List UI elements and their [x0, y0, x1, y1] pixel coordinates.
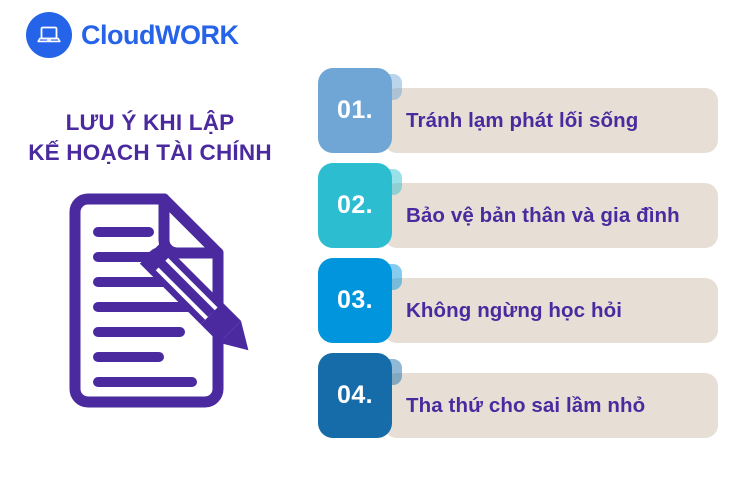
- laptop-icon: [26, 12, 72, 58]
- page-title-line-2: KẾ HOẠCH TÀI CHÍNH: [0, 138, 300, 168]
- list-item-label: Bảo vệ bản thân và gia đình: [406, 183, 680, 248]
- list-item[interactable]: 02. Bảo vệ bản thân và gia đình: [316, 163, 726, 248]
- tips-list: 01. Tránh lạm phát lối sống 02. Bảo vệ b…: [316, 68, 726, 458]
- list-item-number-badge: 02.: [318, 163, 392, 248]
- page-title: LƯU Ý KHI LẬP KẾ HOẠCH TÀI CHÍNH: [0, 108, 300, 169]
- page-title-line-1: LƯU Ý KHI LẬP: [0, 108, 300, 138]
- brand-name: CloudWORK: [81, 22, 238, 49]
- list-item-number: 02.: [337, 193, 373, 218]
- list-item-number: 03.: [337, 288, 373, 313]
- list-item[interactable]: 01. Tránh lạm phát lối sống: [316, 68, 726, 153]
- list-item[interactable]: 03. Không ngừng học hỏi: [316, 258, 726, 343]
- list-item-number-badge: 01.: [318, 68, 392, 153]
- list-item-label: Tha thứ cho sai lầm nhỏ: [406, 373, 645, 438]
- list-item-label: Không ngừng học hỏi: [406, 278, 622, 343]
- list-item-number-badge: 03.: [318, 258, 392, 343]
- list-item-number: 01.: [337, 98, 373, 123]
- list-item-number-badge: 04.: [318, 353, 392, 438]
- list-item[interactable]: 04. Tha thứ cho sai lầm nhỏ: [316, 353, 726, 438]
- list-item-number: 04.: [337, 383, 373, 408]
- list-item-label: Tránh lạm phát lối sống: [406, 88, 638, 153]
- brand-logo: CloudWORK: [26, 12, 238, 58]
- document-with-pencil-icon: [62, 188, 282, 413]
- poster-canvas: CloudWORK LƯU Ý KHI LẬP KẾ HOẠCH TÀI CHÍ…: [0, 0, 750, 500]
